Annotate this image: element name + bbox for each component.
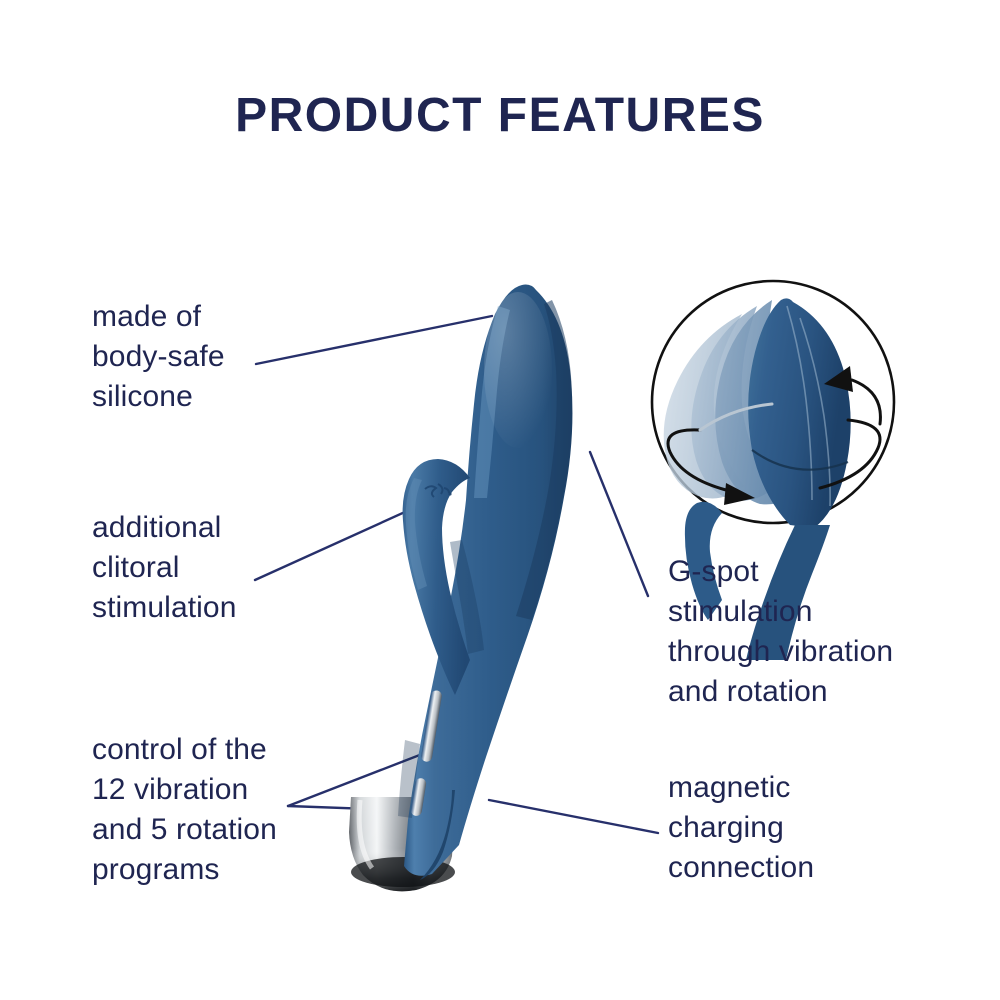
product-shaft-and-head bbox=[404, 285, 572, 876]
rotation-ghost-1 bbox=[715, 300, 802, 504]
brand-logo-emboss bbox=[425, 484, 452, 497]
control-buttons[interactable] bbox=[410, 690, 442, 817]
callout-control-of-programs: control of the 12 vibration and 5 rotati… bbox=[92, 730, 382, 890]
clitoral-arm bbox=[403, 459, 470, 695]
button-vibration bbox=[420, 690, 442, 763]
page-title: PRODUCT FEATURES bbox=[0, 92, 1000, 140]
product-features-infographic: PRODUCT FEATURES bbox=[0, 0, 1000, 1000]
callout-made-of-body-safe-silicone: made of body-safe silicone bbox=[92, 297, 362, 417]
base-silicone-skirt bbox=[420, 790, 455, 880]
rotation-orbit-arc bbox=[668, 430, 726, 490]
rotation-arrow-right bbox=[824, 366, 853, 392]
product-body bbox=[349, 285, 572, 892]
rotating-head bbox=[748, 298, 851, 528]
leader-line-magnetic bbox=[489, 800, 658, 833]
rotation-orbit-arc-right bbox=[820, 420, 880, 488]
rotation-orbit-arc-back bbox=[700, 404, 772, 430]
callout-additional-clitoral-stimulation: additional clitoral stimulation bbox=[92, 508, 372, 628]
rotation-ghost-3 bbox=[664, 314, 744, 498]
rotation-arrow-left bbox=[724, 483, 755, 505]
button-rotation bbox=[410, 777, 427, 816]
callout-g-spot-stimulation: G-spot stimulation through vibration and… bbox=[668, 552, 968, 712]
rotation-orbit-arc-top-right bbox=[852, 380, 880, 424]
rotation-ghost-2 bbox=[691, 306, 776, 501]
callout-magnetic-charging-connection: magnetic charging connection bbox=[668, 768, 948, 888]
leader-line-gspot bbox=[590, 452, 648, 596]
